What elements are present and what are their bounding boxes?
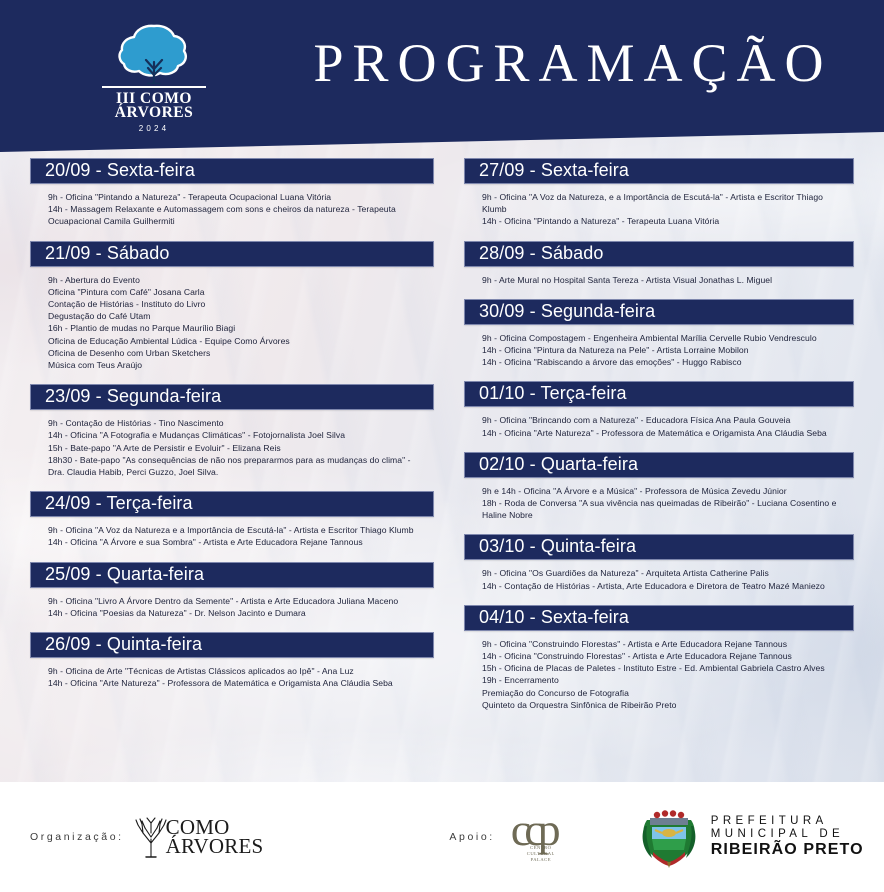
day-date-label: 01/10 - Terça-feira: [479, 384, 627, 402]
organizacao-group: Organização: COMO ÁRVORES: [30, 815, 263, 859]
day-block: 30/09 - Segunda-feira9h - Oficina Compos…: [464, 299, 854, 382]
day-header-bar[interactable]: 03/10 - Quinta-feira: [464, 534, 854, 560]
day-header-bar[interactable]: 28/09 - Sábado: [464, 241, 854, 267]
day-item: 16h - Plantio de mudas no Parque Mauríli…: [48, 322, 428, 334]
schedule-column-left: 20/09 - Sexta-feira9h - Oficina "Pintand…: [0, 152, 442, 782]
day-item: Oficina de Educação Ambiental Lúdica - E…: [48, 335, 428, 347]
day-item-list: 9h - Oficina "Os Guardiões da Natureza" …: [464, 560, 854, 604]
tree-icon: [115, 22, 193, 84]
day-date-label: 03/10 - Quinta-feira: [479, 537, 636, 555]
day-item-list: 9h - Oficina "A Voz da Natureza e a Impo…: [30, 517, 434, 561]
page-title: PROGRAMAÇÃO: [278, 36, 868, 90]
ccp-sub-3: PALACE: [531, 857, 551, 862]
day-item: 14h - Oficina "Pintando a Natureza" - Te…: [482, 215, 848, 227]
day-date-label: 25/09 - Quarta-feira: [45, 565, 204, 583]
day-date-label: 28/09 - Sábado: [479, 244, 604, 262]
day-block: 03/10 - Quinta-feira9h - Oficina "Os Gua…: [464, 534, 854, 604]
day-item: 9h - Oficina "A Voz da Natureza e a Impo…: [48, 524, 428, 536]
day-item: 9h - Oficina "Pintando a Natureza" - Ter…: [48, 191, 428, 203]
day-date-label: 30/09 - Segunda-feira: [479, 302, 655, 320]
day-header-bar[interactable]: 01/10 - Terça-feira: [464, 381, 854, 407]
day-block: 20/09 - Sexta-feira9h - Oficina "Pintand…: [30, 158, 434, 241]
day-item: 14h - Oficina "Arte Natureza" - Professo…: [48, 677, 428, 689]
day-item-list: 9h - Oficina Compostagem - Engenheira Am…: [464, 325, 854, 382]
prefeitura-line-2: MUNICIPAL DE: [711, 828, 864, 841]
day-item: 14h - Oficina "Rabiscando a árvore das e…: [482, 356, 848, 368]
day-item: 14h - Oficina "Poesias da Natureza" - Dr…: [48, 607, 428, 619]
day-header-bar[interactable]: 21/09 - Sábado: [30, 241, 434, 267]
prefeitura-line-3: RIBEIRÃO PRETO: [711, 841, 864, 859]
day-date-label: 04/10 - Sexta-feira: [479, 608, 629, 626]
day-header-bar[interactable]: 23/09 - Segunda-feira: [30, 384, 434, 410]
day-header-bar[interactable]: 24/09 - Terça-feira: [30, 491, 434, 517]
day-block: 24/09 - Terça-feira9h - Oficina "A Voz d…: [30, 491, 434, 561]
day-item: Contação de Histórias - Instituto do Liv…: [48, 298, 428, 310]
day-item: 9h - Oficina Compostagem - Engenheira Am…: [482, 332, 848, 344]
coat-of-arms-icon: [639, 806, 699, 868]
day-header-bar[interactable]: 02/10 - Quarta-feira: [464, 452, 854, 478]
day-item: 9h e 14h - Oficina "A Árvore e a Música"…: [482, 485, 848, 497]
day-item: Quinteto da Orquestra Sinfônica de Ribei…: [482, 699, 848, 711]
schedule-column-right: 27/09 - Sexta-feira9h - Oficina "A Voz d…: [442, 152, 884, 782]
day-date-label: 27/09 - Sexta-feira: [479, 161, 629, 179]
day-item: Oficina de Desenho com Urban Sketchers: [48, 347, 428, 359]
day-block: 21/09 - Sábado9h - Abertura do EventoOfi…: [30, 241, 434, 385]
day-header-bar[interactable]: 04/10 - Sexta-feira: [464, 605, 854, 631]
ccp-sub-2: CULTURAL: [527, 851, 555, 856]
poster-footer: Organização: COMO ÁRVORES Apoio:: [0, 782, 884, 892]
event-logo: III COMO ÁRVORES 2024: [96, 22, 212, 134]
prefeitura-group: PREFEITURA MUNICIPAL DE RIBEIRÃO PRETO: [639, 806, 864, 868]
logo-wordmark: III COMO ÁRVORES 2024: [115, 92, 193, 133]
day-item-list: 9h e 14h - Oficina "A Árvore e a Música"…: [464, 478, 854, 535]
day-block: 23/09 - Segunda-feira9h - Contação de Hi…: [30, 384, 434, 491]
day-item: 9h - Oficina "Construindo Florestas" - A…: [482, 638, 848, 650]
schedule-columns: 20/09 - Sexta-feira9h - Oficina "Pintand…: [0, 152, 884, 782]
day-item: 14h - Massagem Relaxante e Automassagem …: [48, 203, 428, 227]
day-item: 9h - Oficina "Brincando com a Natureza" …: [482, 414, 848, 426]
day-block: 02/10 - Quarta-feira9h e 14h - Oficina "…: [464, 452, 854, 535]
ccp-sub-1: CENTRO: [530, 845, 551, 850]
day-block: 04/10 - Sexta-feira9h - Oficina "Constru…: [464, 605, 854, 724]
day-item-list: 9h - Oficina "Brincando com a Natureza" …: [464, 407, 854, 451]
day-header-bar[interactable]: 27/09 - Sexta-feira: [464, 158, 854, 184]
day-item-list: 9h - Oficina de Arte "Técnicas de Artist…: [30, 658, 434, 702]
logo-year: 2024: [115, 125, 193, 133]
day-item-list: 9h - Abertura do EventoOficina "Pintura …: [30, 267, 434, 385]
day-header-bar[interactable]: 26/09 - Quinta-feira: [30, 632, 434, 658]
day-item: 14h - Oficina "Construindo Florestas" - …: [482, 650, 848, 662]
day-item-list: 9h - Arte Mural no Hospital Santa Tereza…: [464, 267, 854, 299]
day-block: 01/10 - Terça-feira9h - Oficina "Brincan…: [464, 381, 854, 451]
day-item: 9h - Oficina "Os Guardiões da Natureza" …: [482, 567, 848, 579]
day-date-label: 26/09 - Quinta-feira: [45, 635, 202, 653]
day-item: 9h - Contação de Histórias - Tino Nascim…: [48, 417, 428, 429]
day-item: 9h - Oficina "A Voz da Natureza, e a Imp…: [482, 191, 848, 215]
day-item: 18h - Roda de Conversa "A sua vivência n…: [482, 497, 848, 521]
day-block: 25/09 - Quarta-feira9h - Oficina "Livro …: [30, 562, 434, 632]
day-date-label: 20/09 - Sexta-feira: [45, 161, 195, 179]
day-item: 15h - Oficina de Placas de Paletes - Ins…: [482, 662, 848, 674]
ccp-subtitle: CENTRO CULTURAL PALACE: [527, 845, 555, 863]
day-item: 9h - Oficina de Arte "Técnicas de Artist…: [48, 665, 428, 677]
logo-line-2: ÁRVORES: [115, 106, 193, 121]
day-header-bar[interactable]: 20/09 - Sexta-feira: [30, 158, 434, 184]
day-item: Música com Teus Araújo: [48, 359, 428, 371]
day-header-bar[interactable]: 25/09 - Quarta-feira: [30, 562, 434, 588]
prefeitura-wordmark: PREFEITURA MUNICIPAL DE RIBEIRÃO PRETO: [711, 815, 864, 859]
day-item-list: 9h - Oficina "Livro A Árvore Dentro da S…: [30, 588, 434, 632]
day-item: 19h - Encerramento: [482, 674, 848, 686]
day-date-label: 24/09 - Terça-feira: [45, 494, 193, 512]
day-date-label: 23/09 - Segunda-feira: [45, 387, 221, 405]
como-arvores-wordmark: COMO ÁRVORES: [166, 818, 264, 857]
day-item: 14h - Contação de Histórias - Artista, A…: [482, 580, 848, 592]
day-item: 9h - Oficina "Livro A Árvore Dentro da S…: [48, 595, 428, 607]
day-date-label: 21/09 - Sábado: [45, 244, 170, 262]
day-item-list: 9h - Oficina "Pintando a Natureza" - Ter…: [30, 184, 434, 241]
day-block: 26/09 - Quinta-feira9h - Oficina de Arte…: [30, 632, 434, 702]
day-item-list: 9h - Contação de Histórias - Tino Nascim…: [30, 410, 434, 491]
day-item: Premiação do Concurso de Fotografia: [482, 687, 848, 699]
day-item: 14h - Oficina "A Fotografia e Mudanças C…: [48, 429, 428, 441]
day-item: 9h - Arte Mural no Hospital Santa Tereza…: [482, 274, 848, 286]
prefeitura-line-1: PREFEITURA: [711, 815, 864, 828]
day-item-list: 9h - Oficina "Construindo Florestas" - A…: [464, 631, 854, 724]
apoio-group: Apoio: ccp CENTRO CULTURAL PALACE: [449, 805, 602, 869]
day-header-bar[interactable]: 30/09 - Segunda-feira: [464, 299, 854, 325]
day-item: Oficina "Pintura com Café" Josana Carla: [48, 286, 428, 298]
day-item-list: 9h - Oficina "A Voz da Natureza, e a Imp…: [464, 184, 854, 241]
day-item: 15h - Bate-papo "A Arte de Persistir e E…: [48, 442, 428, 454]
poster-root: III COMO ÁRVORES 2024 PROGRAMAÇÃO 20/09 …: [0, 0, 884, 892]
apoio-label: Apoio:: [449, 831, 494, 843]
como-arvores-logo: COMO ÁRVORES: [130, 815, 264, 859]
day-item: 9h - Abertura do Evento: [48, 274, 428, 286]
day-date-label: 02/10 - Quarta-feira: [479, 455, 638, 473]
poster-header: III COMO ÁRVORES 2024 PROGRAMAÇÃO: [0, 0, 884, 152]
day-item: 14h - Oficina "A Árvore e sua Sombra" - …: [48, 536, 428, 548]
organizacao-label: Organização:: [30, 831, 124, 843]
day-item: 14h - Oficina "Arte Natureza" - Professo…: [482, 427, 848, 439]
org-line-2: ÁRVORES: [166, 837, 264, 856]
day-item: Degustação do Café Utam: [48, 310, 428, 322]
ccp-logo: ccp CENTRO CULTURAL PALACE: [511, 805, 603, 869]
day-item: 18h30 - Bate-papo "As consequências de n…: [48, 454, 428, 478]
logo-divider: [102, 86, 206, 88]
day-item: 14h - Oficina "Pintura da Natureza na Pe…: [482, 344, 848, 356]
day-block: 28/09 - Sábado9h - Arte Mural no Hospita…: [464, 241, 854, 299]
day-block: 27/09 - Sexta-feira9h - Oficina "A Voz d…: [464, 158, 854, 241]
